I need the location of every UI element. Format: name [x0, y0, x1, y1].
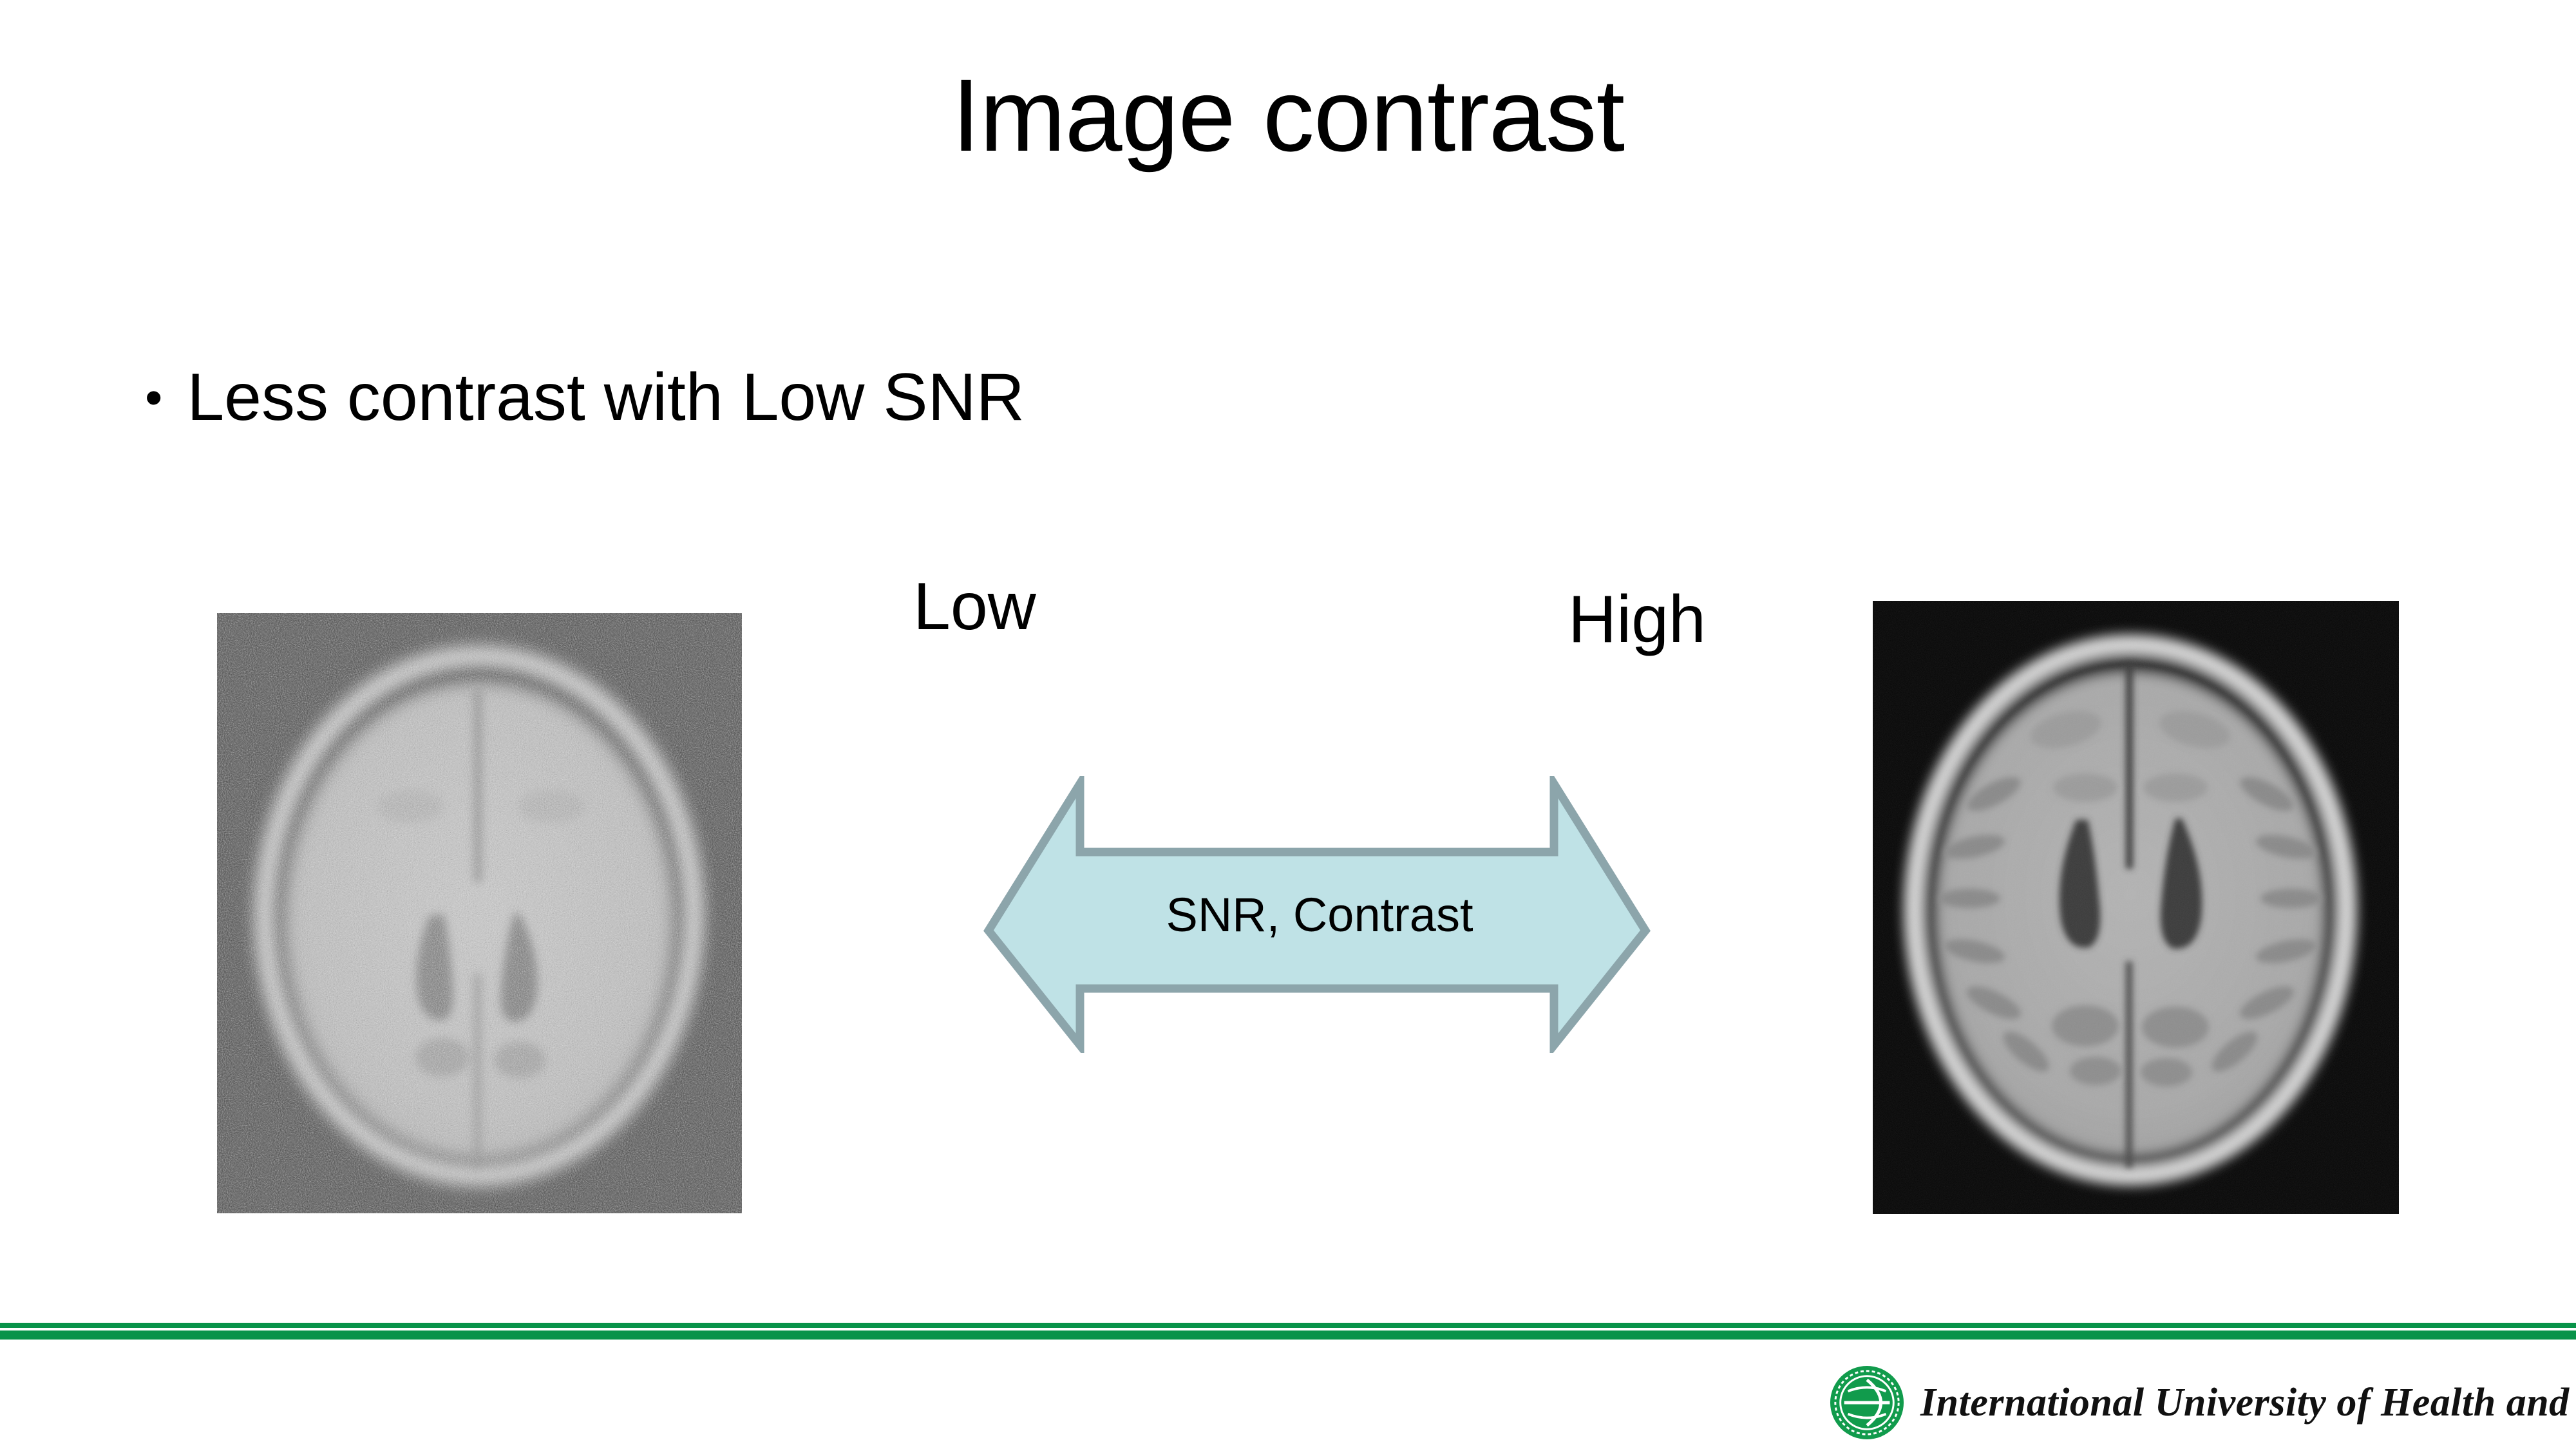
high-snr-mri-graphic	[1873, 601, 2399, 1214]
footer-rule-thin	[0, 1323, 2576, 1328]
footer-branding: International University of Health and W…	[1829, 1364, 2576, 1441]
arrow-label-text: SNR, Contrast	[982, 776, 1652, 1053]
footer-rule-thick	[0, 1331, 2576, 1340]
bullet-marker-icon: •	[145, 372, 162, 422]
footer-organization-name: International University of Health and W…	[1920, 1380, 2576, 1426]
bullet-text: Less contrast with Low SNR	[187, 361, 1025, 434]
low-snr-mri-graphic	[217, 613, 742, 1213]
bullet-list-item: • Less contrast with Low SNR	[145, 361, 1025, 434]
double-arrow-shape: SNR, Contrast	[982, 776, 1652, 1053]
iuhw-seal-logo-icon	[1829, 1365, 1905, 1441]
page-title: Image contrast	[0, 61, 2576, 169]
high-snr-brain-mri	[1873, 601, 2399, 1214]
slide-canvas: Image contrast • Less contrast with Low …	[0, 0, 2576, 1449]
low-snr-brain-mri	[217, 613, 742, 1213]
scale-label-low: Low	[913, 573, 1036, 640]
scale-label-high: High	[1568, 586, 1706, 653]
